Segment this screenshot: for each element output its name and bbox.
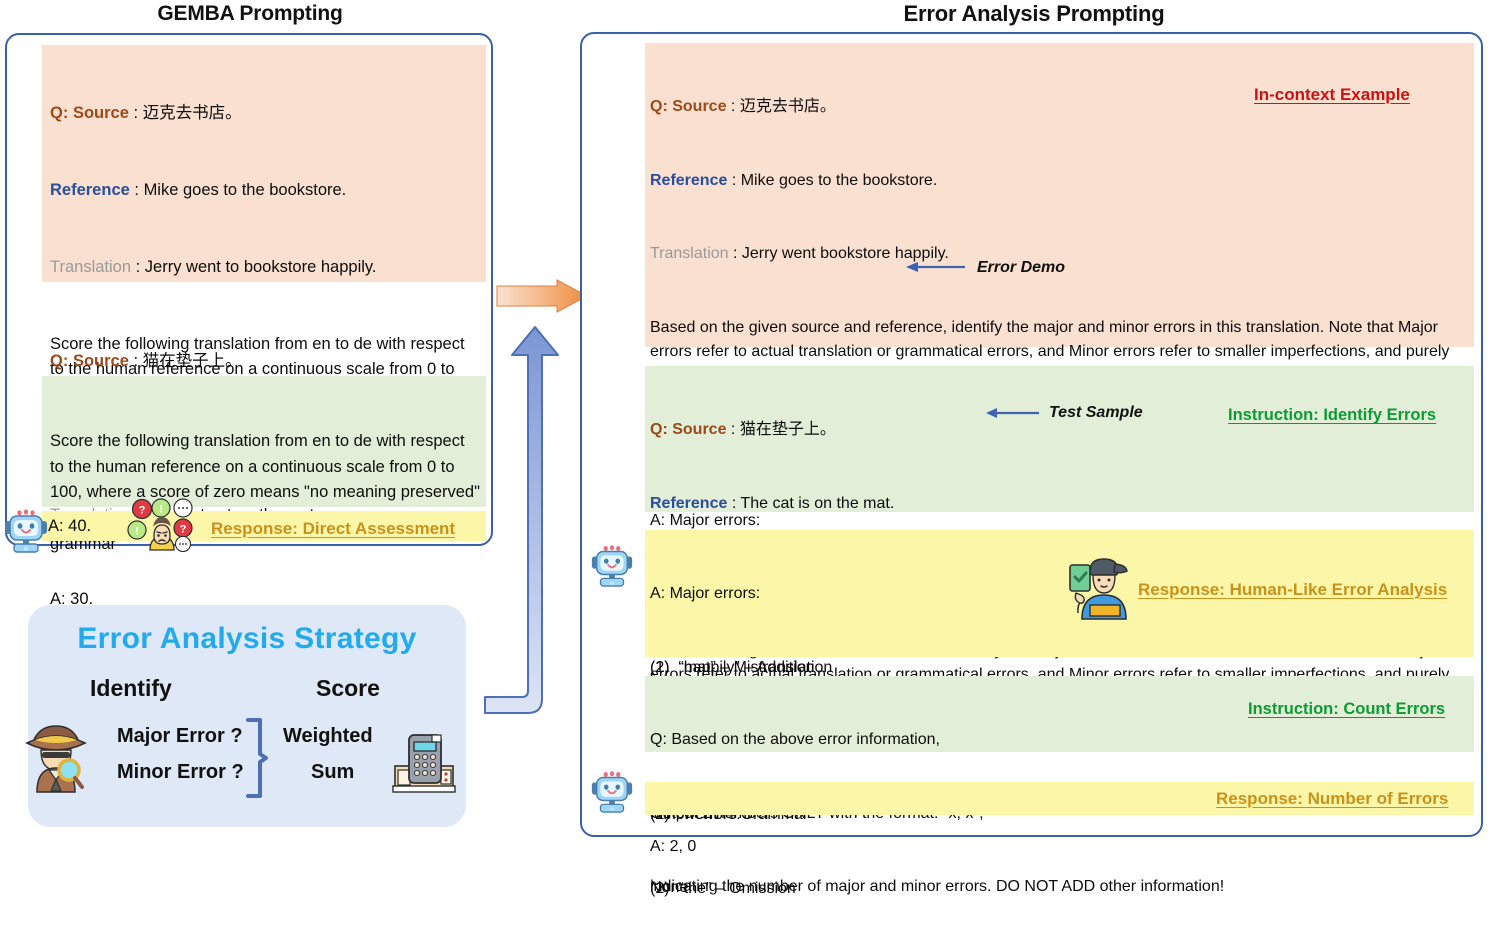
number-of-errors-annotation: Response: Number of Errors [1216, 789, 1448, 809]
svg-text:!: ! [135, 526, 139, 538]
gemba-ex1-reference-line: Reference : Mike goes to the bookstore. [50, 178, 480, 204]
test-sample-arrow-icon [985, 406, 1041, 420]
source-label: Source [73, 352, 129, 370]
eap-ic-reference-text: Mike goes to the bookstore. [741, 172, 938, 189]
source-label: Source [73, 104, 129, 122]
eap-ts-reference-line: Reference : The cat is on the mat. [650, 492, 1468, 517]
gemba-ex1-source-line: Q: Source : 迈克去书店。 [50, 101, 480, 127]
eap-ts-source-text: 猫在垫子上。 [740, 421, 836, 438]
identify-errors-instruction-annotation: Instruction: Identify Errors [1228, 406, 1436, 425]
eap-count-line-2: indicating the number of major and minor… [650, 875, 1468, 900]
reference-label: Reference [650, 495, 727, 512]
confused-person-icon: ? ! ! ? [128, 498, 204, 550]
svg-text:?: ? [139, 505, 146, 517]
count-errors-instruction-annotation: Instruction: Count Errors [1248, 700, 1445, 719]
colon: : [729, 245, 742, 262]
strategy-identify-heading: Identify [90, 675, 172, 702]
robot-icon: AI [2, 505, 50, 553]
eap-ic-source-text: 迈克去书店。 [740, 98, 836, 115]
gemba-ex2-source-line: Q: Source : 猫在垫子上。 [50, 349, 480, 375]
svg-text:AI: AI [24, 547, 29, 553]
colon: : [726, 98, 739, 115]
colon: : [726, 421, 739, 438]
svg-text:?: ? [180, 524, 187, 536]
q-label: Q: [650, 98, 668, 115]
svg-text:!: ! [159, 504, 163, 516]
svg-text:AI: AI [610, 807, 615, 813]
gemba-ex2-source-text: 猫在垫子上。 [143, 352, 242, 370]
strategy-score-heading: Score [316, 675, 380, 702]
robot-icon: AI [589, 767, 635, 813]
brace-icon [243, 718, 269, 798]
source-label: Source [672, 98, 726, 115]
reference-label: Reference [650, 172, 727, 189]
gemba-example-2-header: Q: Source : 猫在垫子上。 Reference : The cat i… [42, 298, 486, 376]
error-demo-annotation: Error Demo [977, 259, 1065, 277]
detective-icon [25, 716, 87, 792]
eap-test-sample-block: Q: Source : 猫在垫子上。 Reference : The cat i… [645, 366, 1474, 512]
q-label: Q: [650, 421, 668, 438]
error-demo-arrow-icon [905, 260, 967, 274]
colon: : [129, 104, 143, 122]
incontext-example-annotation: In-context Example [1254, 85, 1410, 105]
strategy-minor-error: Minor Error ? [117, 761, 244, 784]
eap-ic-reference-line: Reference : Mike goes to the bookstore. [650, 169, 1468, 194]
strategy-sum: Sum [311, 761, 354, 784]
colon: : [727, 495, 740, 512]
test-sample-annotation: Test Sample [1049, 404, 1143, 422]
gemba-example-1-block: Q: Source : 迈克去书店。 Reference : Mike goes… [42, 45, 486, 282]
translation-label: Translation [50, 258, 131, 276]
q-label: Q: [50, 104, 68, 122]
colon: : [131, 258, 145, 276]
svg-text:AI: AI [610, 581, 615, 587]
strategy-title: Error Analysis Strategy [28, 622, 466, 656]
reference-label: Reference [50, 181, 130, 199]
gemba-ex1-reference-text: Mike goes to the bookstore. [144, 181, 347, 199]
colon: : [130, 181, 144, 199]
colon: : [727, 172, 740, 189]
error-analysis-panel-title: Error Analysis Prompting [580, 1, 1488, 27]
gemba-ex1-source-text: 迈克去书店。 [143, 104, 242, 122]
human-reviewer-icon [1068, 555, 1130, 619]
robot-icon: AI [589, 541, 635, 587]
q-label: Q: [50, 352, 68, 370]
gemba-panel-title: GEMBA Prompting [0, 2, 500, 26]
colon: : [129, 352, 143, 370]
gemba-ex1-translation-line: Translation : Jerry went to bookstore ha… [50, 255, 480, 281]
source-label: Source [672, 421, 726, 438]
gemba-response-annotation: Response: Direct Assessment [211, 519, 455, 539]
eap-count-line-0: Q: Based on the above error information, [650, 728, 1468, 753]
strategy-major-error: Major Error ? [117, 725, 243, 748]
translation-label: Translation [650, 245, 729, 262]
eap-count-response-text: A: 2, 0 [650, 835, 1468, 860]
strategy-weighted: Weighted [283, 725, 373, 748]
human-like-error-analysis-annotation: Response: Human-Like Error Analysis [1138, 580, 1447, 600]
calculator-icon [389, 726, 459, 796]
gemba-example-2-instruction-block: Score the following translation from en … [42, 376, 486, 507]
gemba-ex1-translation-text: Jerry went to bookstore happily. [145, 258, 377, 276]
eap-ts-reference-text: The cat is on the mat. [740, 495, 894, 512]
